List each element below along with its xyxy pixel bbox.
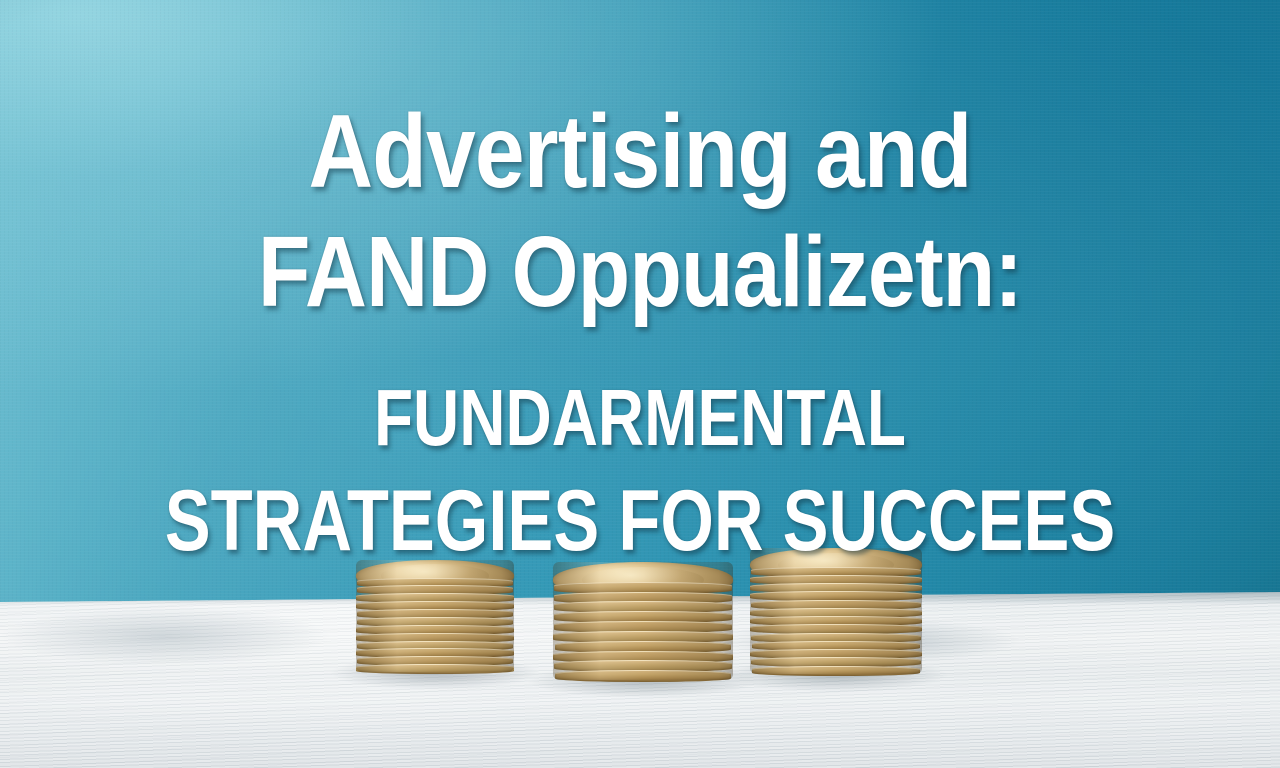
coin-stack-left-coin [356,664,514,674]
headline-line-3: FUNDARMENTAL [128,378,1152,458]
headline-line-1: Advertising and [90,100,1191,204]
table-shadow-left [0,606,330,666]
coin-stack-right-coin [752,666,920,676]
promo-banner: Advertising and FAND Oppualizetn: FUNDAR… [0,0,1280,768]
coin-stack-left [356,560,514,672]
headline-line-4: STRATEGIES FOR SUCCEES [128,478,1152,564]
coin-stack-center [553,562,733,680]
headline-line-2: FAND Oppualizetn: [90,222,1191,322]
coin-stack-center-coin [555,670,731,682]
